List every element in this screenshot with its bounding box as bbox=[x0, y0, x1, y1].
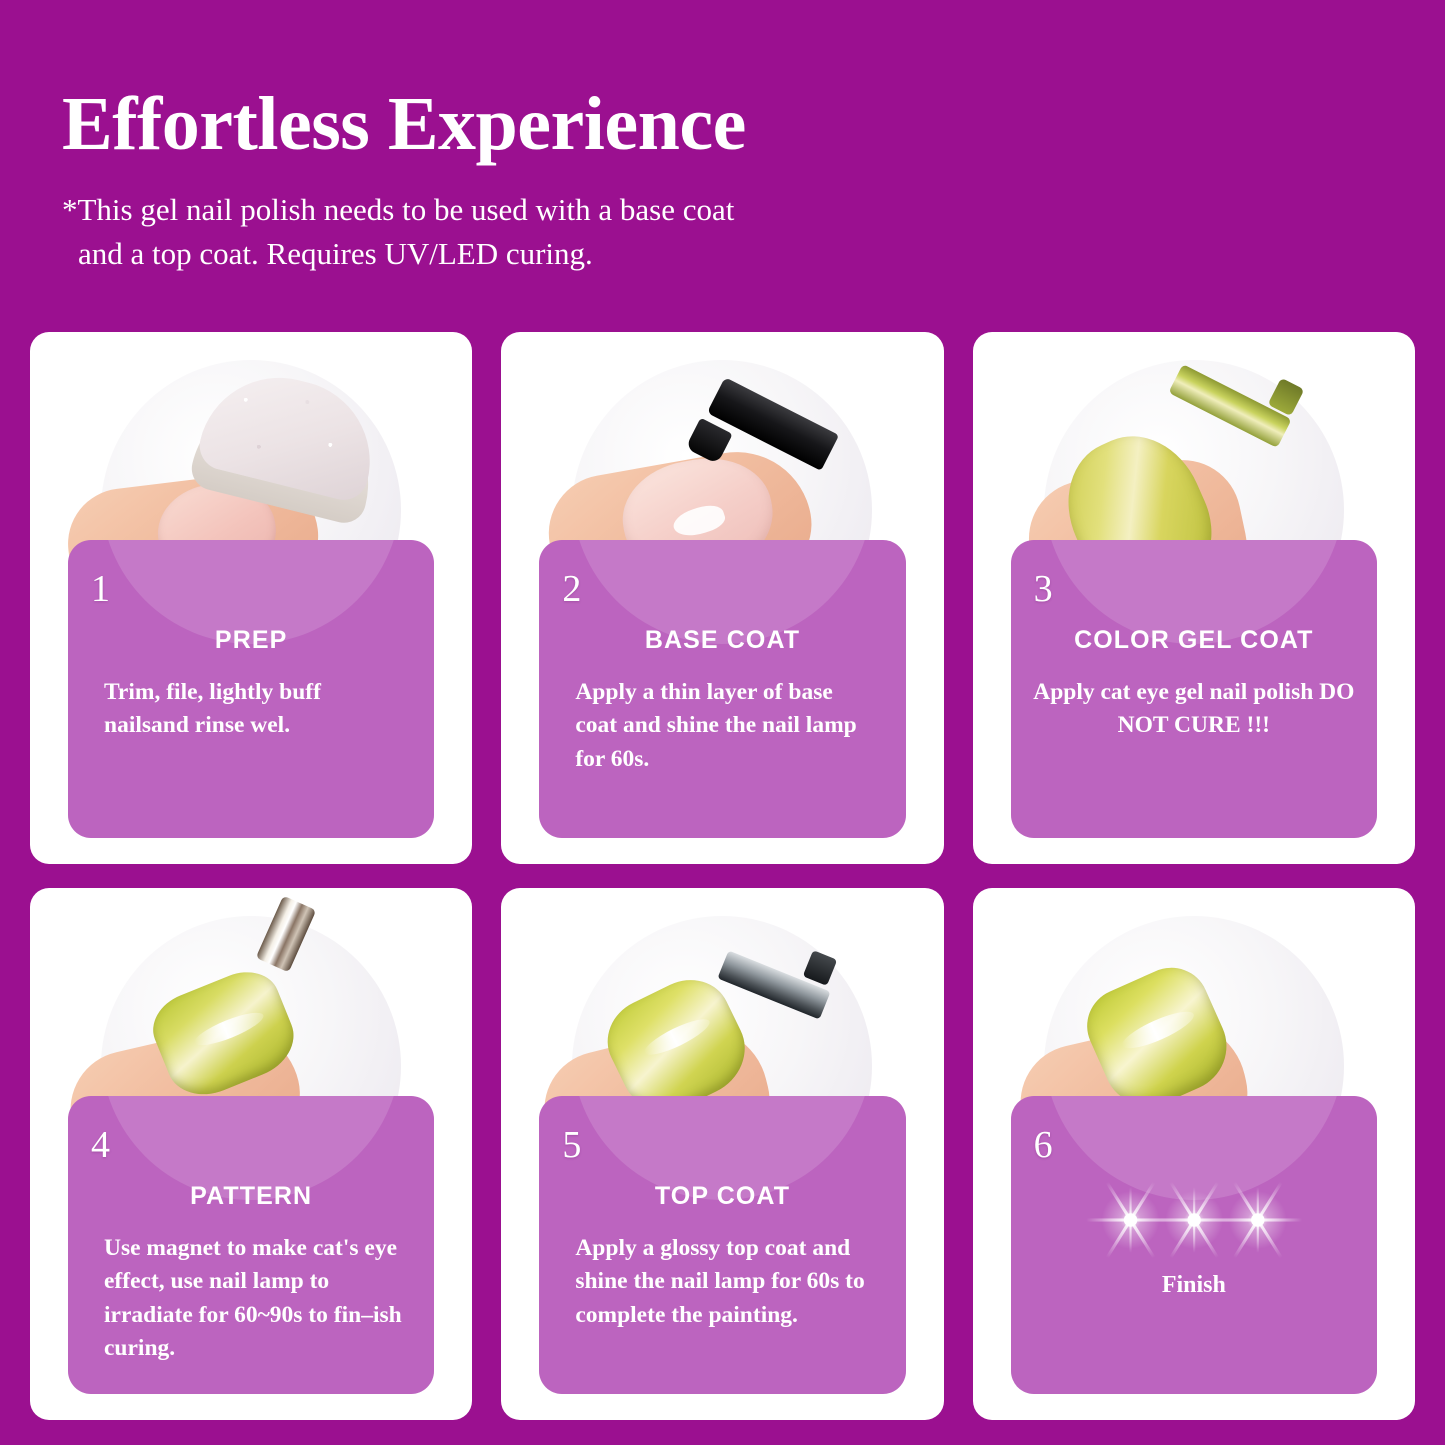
step-card-1[interactable]: 1 PREP Trim, file, lightly buff nailsand… bbox=[30, 332, 472, 864]
step-card-3[interactable]: 3 COLOR GEL COAT Apply cat eye gel nail … bbox=[973, 332, 1415, 864]
step-panel-4: 4 PATTERN Use magnet to make cat's eye e… bbox=[68, 1096, 434, 1394]
page-title: Effortless Experience bbox=[62, 86, 1162, 162]
step-number: 2 bbox=[562, 570, 581, 608]
step-number: 1 bbox=[91, 570, 110, 608]
step-description: Apply cat eye gel nail polish DO NOT CUR… bbox=[1033, 676, 1355, 743]
step-description: Apply a thin layer of base coat and shin… bbox=[575, 676, 875, 776]
step-panel-3: 3 COLOR GEL COAT Apply cat eye gel nail … bbox=[1011, 540, 1377, 838]
step-title: PREP bbox=[68, 626, 434, 655]
step-description: Trim, file, lightly buff nailsand rinse … bbox=[104, 676, 404, 743]
step-title: COLOR GEL COAT bbox=[1011, 626, 1377, 655]
header-note-line-1: *This gel nail polish needs to be used w… bbox=[62, 192, 734, 227]
step-number: 3 bbox=[1034, 570, 1053, 608]
steps-grid: 1 PREP Trim, file, lightly buff nailsand… bbox=[30, 332, 1415, 1420]
step-description: Apply a glossy top coat and shine the na… bbox=[575, 1232, 875, 1332]
step-card-6[interactable]: 6 bbox=[973, 888, 1415, 1420]
step-panel-1: 1 PREP Trim, file, lightly buff nailsand… bbox=[68, 540, 434, 838]
step-description: Finish bbox=[1011, 1268, 1377, 1302]
step-number: 5 bbox=[562, 1126, 581, 1164]
step-title: BASE COAT bbox=[539, 626, 905, 655]
panel-glow bbox=[1044, 1096, 1344, 1200]
header-note-line-2: and a top coat. Requires UV/LED curing. bbox=[62, 232, 882, 276]
infographic-poster: Effortless Experience *This gel nail pol… bbox=[0, 0, 1445, 1445]
step-title: PATTERN bbox=[68, 1182, 434, 1211]
header: Effortless Experience *This gel nail pol… bbox=[62, 86, 1162, 276]
step-card-5[interactable]: 5 TOP COAT Apply a glossy top coat and s… bbox=[501, 888, 943, 1420]
step-card-4[interactable]: 4 PATTERN Use magnet to make cat's eye e… bbox=[30, 888, 472, 1420]
step-panel-6: 6 bbox=[1011, 1096, 1377, 1394]
step-title: TOP COAT bbox=[539, 1182, 905, 1211]
step-card-2[interactable]: 2 BASE COAT Apply a thin layer of base c… bbox=[501, 332, 943, 864]
step-panel-5: 5 TOP COAT Apply a glossy top coat and s… bbox=[539, 1096, 905, 1394]
header-note: *This gel nail polish needs to be used w… bbox=[62, 188, 882, 276]
step-number: 6 bbox=[1034, 1126, 1053, 1164]
step-panel-2: 2 BASE COAT Apply a thin layer of base c… bbox=[539, 540, 905, 838]
step-description: Use magnet to make cat's eye effect, use… bbox=[104, 1232, 404, 1365]
step-number: 4 bbox=[91, 1126, 110, 1164]
